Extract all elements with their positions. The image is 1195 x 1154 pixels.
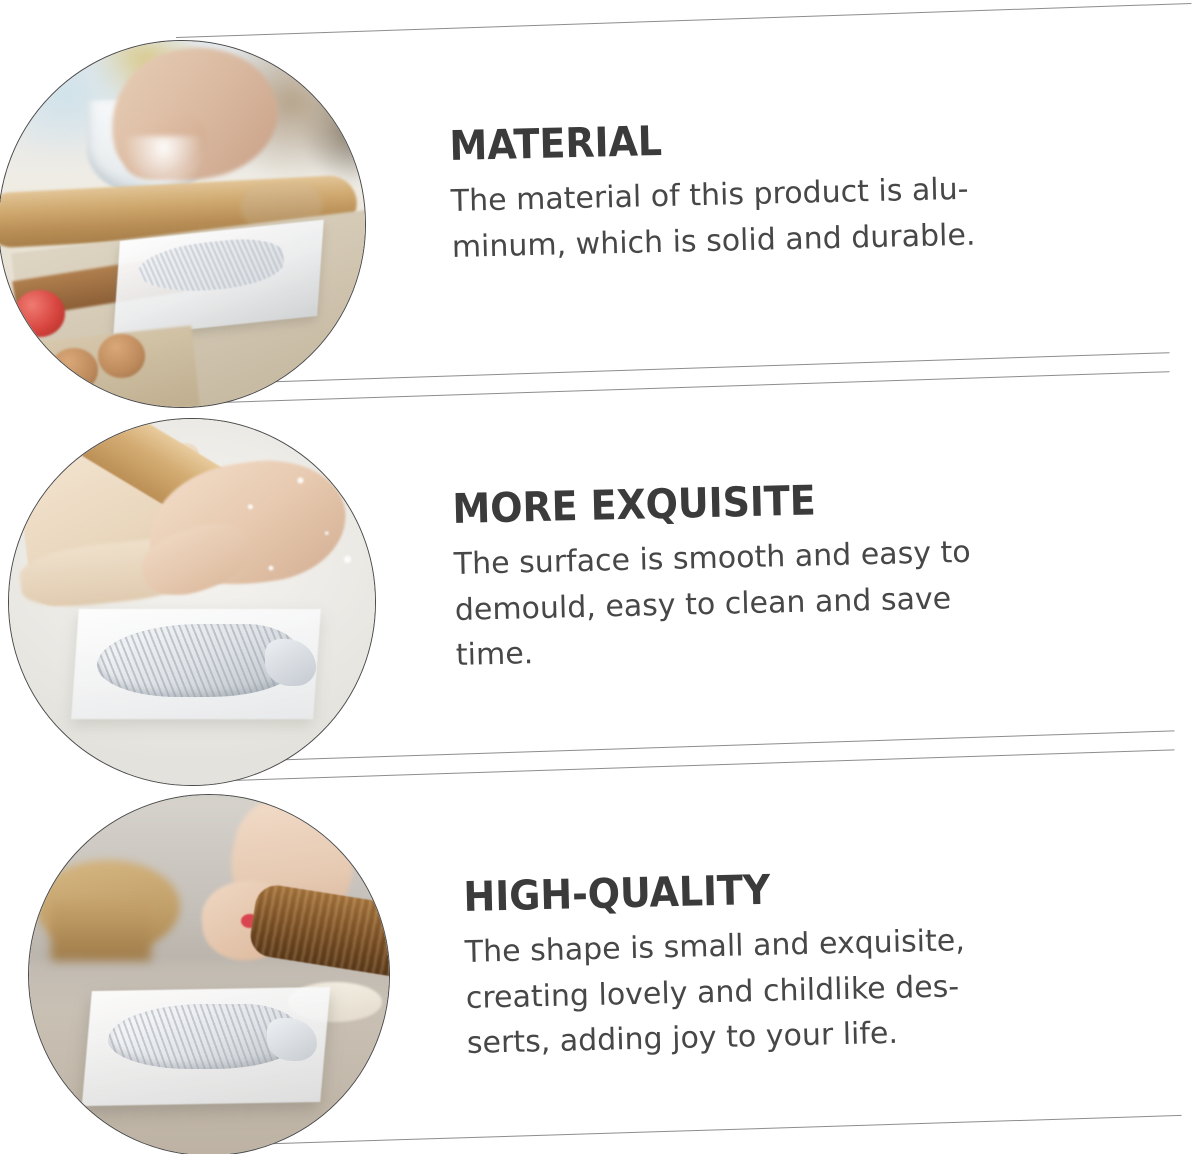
feature-body-high-quality: The shape is small and exquisite, creati… (464, 918, 967, 1067)
wooden-board-base (51, 903, 152, 961)
feature-text-more-exquisite: MORE EXQUISITE The surface is smooth and… (452, 477, 973, 679)
feature-image-material (0, 40, 366, 408)
feature-image-material-content (0, 41, 365, 407)
egg (98, 334, 146, 378)
feature-image-more-exquisite (8, 418, 376, 786)
egg (50, 348, 98, 392)
feature-text-material: MATERIAL The material of this product is… (449, 114, 976, 270)
feature-image-high-quality-content (29, 795, 389, 1154)
flour-specks (221, 463, 367, 609)
divider-rule-top (176, 3, 1191, 38)
product-feature-infographic: MATERIAL The material of this product is… (0, 0, 1195, 1154)
feature-heading-high-quality: HIGH-QUALITY (463, 866, 929, 918)
feature-image-high-quality (28, 794, 390, 1154)
feature-image-more-exquisite-content (9, 419, 375, 785)
feature-body-more-exquisite: The surface is smooth and easy to demoul… (453, 530, 973, 679)
feature-heading-more-exquisite: MORE EXQUISITE (452, 478, 934, 530)
feature-body-material: The material of this product is alu- min… (450, 167, 976, 270)
red-apple (14, 290, 65, 338)
feature-text-high-quality: HIGH-QUALITY The shape is small and exqu… (463, 865, 967, 1067)
feature-heading-material: MATERIAL (449, 115, 937, 167)
